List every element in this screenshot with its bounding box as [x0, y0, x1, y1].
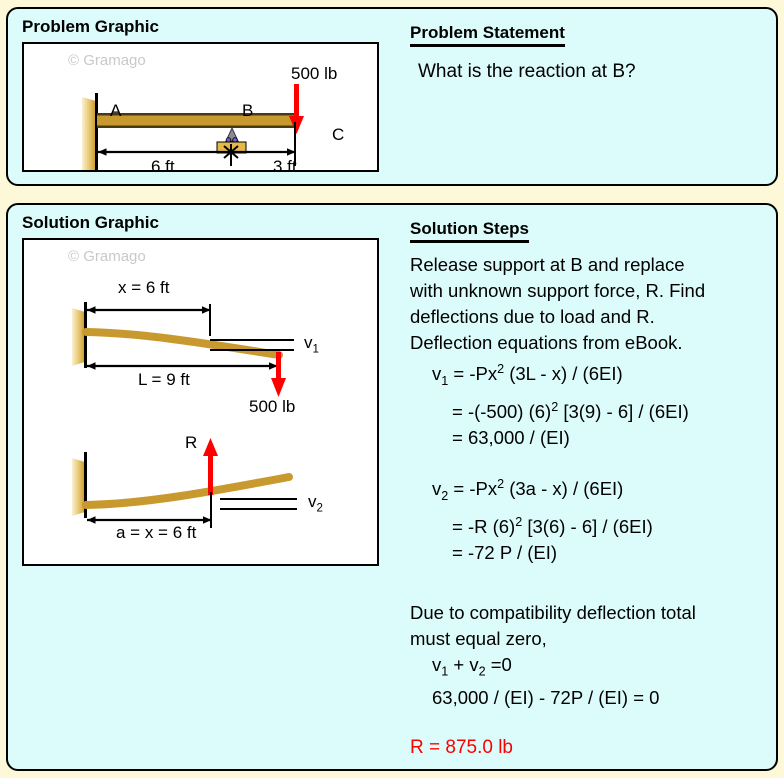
- compat-equation: v1 + v2 =0: [410, 652, 772, 685]
- block-spacer: [410, 566, 772, 600]
- problem-statement-title: Problem Statement: [410, 23, 565, 47]
- problem-graphic-title: Problem Graphic: [22, 17, 159, 37]
- problem-beam-diagram: [24, 44, 377, 170]
- solution-steps-title: Solution Steps: [410, 219, 529, 243]
- label-load-500lb-top: 500 lb: [249, 397, 295, 417]
- block-spacer: [410, 451, 772, 471]
- label-point-a: A: [110, 101, 121, 121]
- equation-v1-line: v1 = -Px2 (3L - x) / (6EI): [410, 356, 772, 394]
- problem-graphic-panel: © Gramago: [22, 42, 379, 172]
- intro-line: with unknown support force, R. Find: [410, 278, 772, 304]
- solution-text-column: Solution Steps Release support at B and …: [410, 219, 772, 761]
- label-v2: v2: [308, 492, 323, 514]
- label-reaction-R: R: [185, 433, 197, 453]
- problem-card: Problem Graphic © Gramago: [6, 7, 778, 186]
- load-arrow-500lb-top: [271, 352, 286, 397]
- label-v1: v1: [304, 333, 319, 355]
- beam-body: [97, 114, 297, 127]
- label-point-b: B: [242, 101, 253, 121]
- label-dim-a: a = x = 6 ft: [116, 523, 196, 543]
- compat-line: must equal zero,: [410, 626, 772, 652]
- deflected-beam-top: [86, 332, 279, 355]
- compatibility-block: Due to compatibility deflection total mu…: [410, 600, 772, 711]
- final-answer: R = 875.0 lb: [410, 735, 772, 761]
- label-dim-3ft: 3 ft: [273, 157, 297, 177]
- intro-line: Release support at B and replace: [410, 252, 772, 278]
- label-dim-x: x = 6 ft: [118, 278, 170, 298]
- equation-v2-line: = -R (6)2 [3(6) - 6] / (6EI): [410, 509, 772, 540]
- beam-top-edge: [97, 113, 297, 116]
- solution-graphic-panel: © Gramago: [22, 238, 379, 566]
- problem-statement-text: What is the reaction at B?: [410, 59, 770, 85]
- solution-card: Solution Graphic © Gramago: [6, 203, 778, 771]
- compat-line: Due to compatibility deflection total: [410, 600, 772, 626]
- problem-text-column: Problem Statement What is the reaction a…: [410, 23, 770, 85]
- block-spacer: [410, 711, 772, 735]
- intro-line: deflections due to load and R.: [410, 304, 772, 330]
- compat-equation: 63,000 / (EI) - 72P / (EI) = 0: [410, 685, 772, 711]
- equation-v2-line: = -72 P / (EI): [410, 540, 772, 566]
- equation-block-v2: v2 = -Px2 (3a - x) / (6EI) = -R (6)2 [3(…: [410, 471, 772, 566]
- page-root: Problem Graphic © Gramago: [0, 0, 784, 778]
- equation-v1-line: = -(-500) (6)2 [3(9) - 6] / (6EI): [410, 394, 772, 425]
- label-dim-6ft: 6 ft: [151, 157, 175, 177]
- intro-line: Deflection equations from eBook.: [410, 330, 772, 356]
- equation-v1-line: = 63,000 / (EI): [410, 425, 772, 451]
- label-load-500lb: 500 lb: [291, 64, 337, 84]
- deflected-beam-bottom: [86, 477, 289, 505]
- beam-bottom-edge: [97, 126, 297, 129]
- equation-block-v1: v1 = -Px2 (3L - x) / (6EI) = -(-500) (6)…: [410, 356, 772, 451]
- solution-graphic-title: Solution Graphic: [22, 213, 159, 233]
- equation-v2-line: v2 = -Px2 (3a - x) / (6EI): [410, 471, 772, 509]
- label-point-c: C: [332, 125, 344, 145]
- label-dim-L: L = 9 ft: [138, 370, 190, 390]
- fixed-support-wall-top: [72, 308, 85, 366]
- solution-beam-diagrams: [24, 240, 377, 564]
- fixed-support-wall: [82, 97, 96, 170]
- solution-intro-block: Release support at B and replace with un…: [410, 252, 772, 356]
